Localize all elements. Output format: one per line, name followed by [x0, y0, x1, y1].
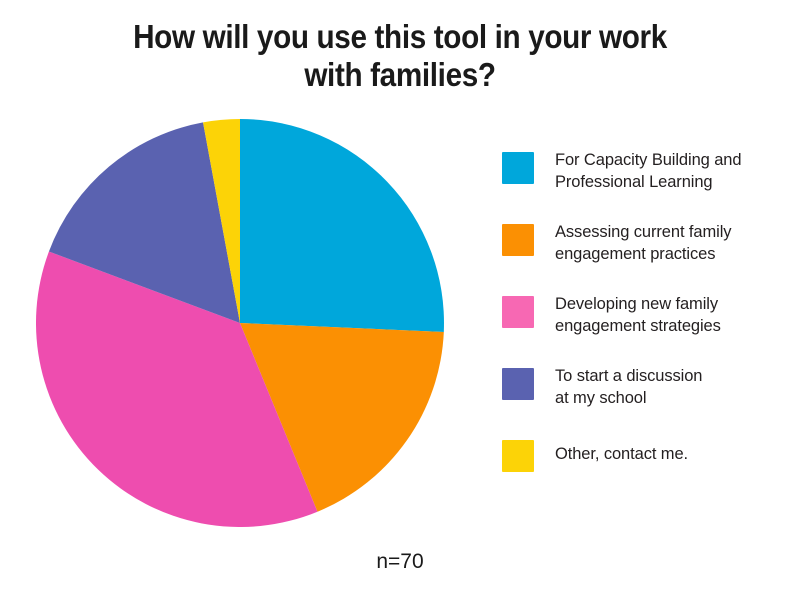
pie-svg	[36, 119, 444, 527]
legend-color-swatch	[502, 440, 534, 472]
legend-color-swatch	[502, 224, 534, 256]
legend-item[interactable]: For Capacity Building and Professional L…	[502, 150, 792, 194]
legend-item[interactable]: To start a discussion at my school	[502, 366, 792, 410]
legend-color-swatch	[502, 296, 534, 328]
legend-item-label: Developing new family engagement strateg…	[555, 294, 721, 338]
pie-chart-figure: How will you use this tool in your work …	[0, 0, 800, 600]
legend-item-label: To start a discussion at my school	[555, 366, 702, 410]
chart-legend: For Capacity Building and Professional L…	[502, 150, 792, 482]
legend-item[interactable]: Assessing current family engagement prac…	[502, 222, 792, 266]
legend-item-label: For Capacity Building and Professional L…	[555, 150, 741, 194]
legend-color-swatch	[502, 152, 534, 184]
sample-size-caption: n=70	[300, 550, 500, 574]
legend-item[interactable]: Other, contact me.	[502, 438, 792, 482]
pie-slice-group	[36, 119, 444, 527]
chart-title: How will you use this tool in your work …	[76, 18, 724, 93]
pie-slice[interactable]	[240, 119, 444, 332]
legend-item-label: Assessing current family engagement prac…	[555, 222, 731, 266]
legend-item[interactable]: Developing new family engagement strateg…	[502, 294, 792, 338]
legend-item-label: Other, contact me.	[555, 438, 688, 466]
pie-graphic	[36, 119, 444, 527]
legend-color-swatch	[502, 368, 534, 400]
